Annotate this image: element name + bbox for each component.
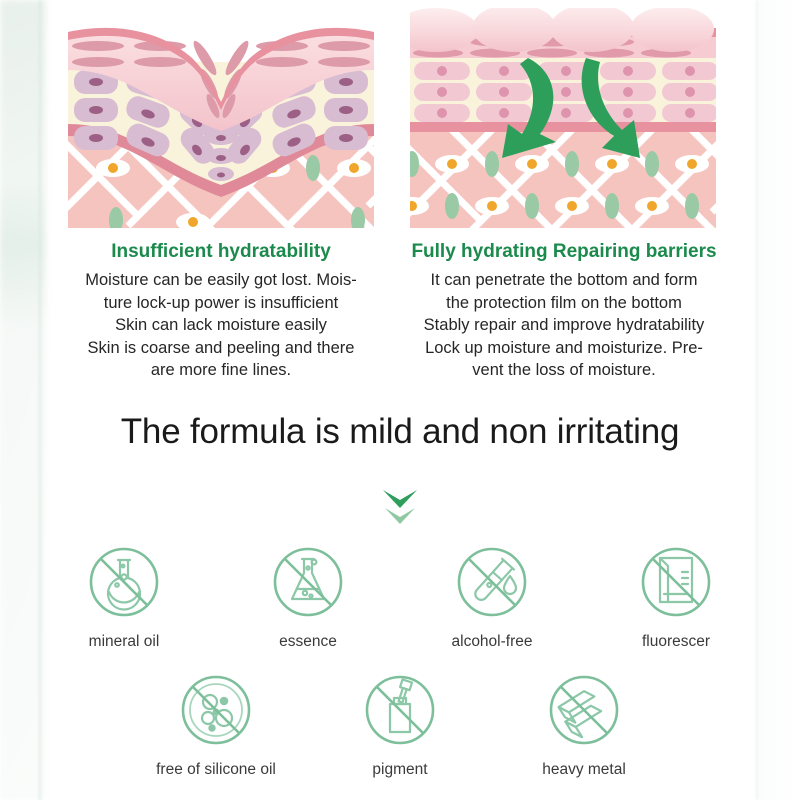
no-beaker-icon <box>634 540 718 624</box>
hydrated-skin-layers <box>410 8 716 228</box>
no-test-tube-icon <box>450 540 534 624</box>
comparison-line: Skin is coarse and peeling and there <box>53 337 389 360</box>
no-oil-droplets-icon <box>174 668 258 752</box>
comparison-body-dehydrated: Moisture can be easily got lost. Mois- t… <box>53 269 389 382</box>
no-erlenmeyer-flask-icon <box>266 540 350 624</box>
comparison-line: are more fine lines. <box>53 359 389 382</box>
comparison-line: Moisture can be easily got lost. Mois- <box>53 269 389 292</box>
dehydrated-skin-layers <box>68 28 374 228</box>
no-round-flask-icon <box>82 540 166 624</box>
comparison-line: vent the loss of moisture. <box>396 359 732 382</box>
free-from-item-mineral-oil[interactable]: mineral oil <box>53 540 195 652</box>
free-from-row-2: free of silicone oil pigment <box>0 668 800 780</box>
no-dropper-bottle-icon <box>358 668 442 752</box>
comparison-line: Lock up moisture and moisturize. Pre- <box>396 337 732 360</box>
free-from-item-silicone-oil[interactable]: free of silicone oil <box>145 668 287 780</box>
skin-diagram-dehydrated <box>68 8 374 228</box>
free-from-label: free of silicone oil <box>156 760 276 780</box>
comparison-line: ture lock-up power is insufficient <box>53 292 389 315</box>
comparison-line: Stably repair and improve hydratability <box>396 314 732 337</box>
skin-diagram-hydrated <box>410 8 716 228</box>
comparison-heading-hydrated: Fully hydrating Repairing barriers <box>396 240 732 264</box>
free-from-label: pigment <box>372 760 427 780</box>
comparison-line: Skin can lack moisture easily <box>53 314 389 337</box>
free-from-item-pigment[interactable]: pigment <box>329 668 471 780</box>
comparison-heading-dehydrated: Insufficient hydratability <box>53 240 389 264</box>
comparison-body-hydrated: It can penetrate the bottom and form the… <box>396 269 732 382</box>
free-from-label: alcohol-free <box>452 632 533 652</box>
chevron-down-stack <box>369 484 431 530</box>
comparison-line: the protection film on the bottom <box>396 292 732 315</box>
free-from-label: mineral oil <box>89 632 160 652</box>
chevron-down-icon-faded <box>385 508 415 524</box>
free-from-item-heavy-metal[interactable]: heavy metal <box>513 668 655 780</box>
free-from-item-essence[interactable]: essence <box>237 540 379 652</box>
free-from-item-alcohol-free[interactable]: alcohol-free <box>421 540 563 652</box>
free-from-label: heavy metal <box>542 760 626 780</box>
chevron-down-icon <box>383 490 417 508</box>
comparison-column-dehydrated: Insufficient hydratability Moisture can … <box>53 240 389 382</box>
page-headline: The formula is mild and non irritating <box>0 410 800 454</box>
comparison-line: It can penetrate the bottom and form <box>396 269 732 292</box>
free-from-row-1: mineral oil essence <box>0 540 800 652</box>
infographic-stage: Insufficient hydratability Moisture can … <box>0 0 800 800</box>
no-metal-ingots-icon <box>542 668 626 752</box>
free-from-label: essence <box>279 632 337 652</box>
comparison-column-hydrated: Fully hydrating Repairing barriers It ca… <box>396 240 732 382</box>
free-from-label: fluorescer <box>642 632 710 652</box>
free-from-item-fluorescer[interactable]: fluorescer <box>605 540 747 652</box>
